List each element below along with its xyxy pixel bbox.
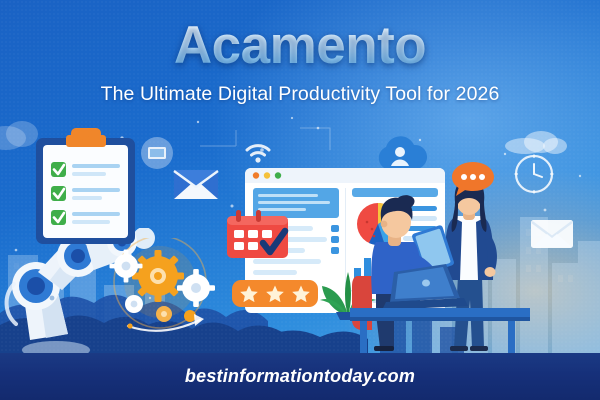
window-dot-close xyxy=(253,172,259,178)
window-dot-minimize xyxy=(264,172,270,178)
cloud-icon xyxy=(505,128,567,154)
monitor-icon xyxy=(140,136,174,170)
window-dot-maximize xyxy=(275,172,281,178)
promo-banner: Acamento The Ultimate Digital Productivi… xyxy=(0,0,600,400)
chat-bubble-icon xyxy=(450,160,496,198)
people-at-desk xyxy=(350,180,530,355)
checklist-clipboard xyxy=(33,128,138,246)
footer-bar: bestinformationtoday.com xyxy=(0,353,600,400)
banner-subtitle: The Ultimate Digital Productivity Tool f… xyxy=(0,83,600,106)
banner-header: Acamento The Ultimate Digital Productivi… xyxy=(0,0,600,106)
brand-title: Acamento xyxy=(0,0,600,74)
envelope-icon-white xyxy=(530,218,574,250)
calendar-icon xyxy=(225,210,290,262)
gear-cluster xyxy=(108,238,218,338)
envelope-icon-blue xyxy=(173,168,219,200)
wifi-icon xyxy=(243,140,273,164)
site-url[interactable]: bestinformationtoday.com xyxy=(185,366,415,387)
star-rating-pill xyxy=(232,280,318,307)
cloud-user-icon xyxy=(372,133,430,173)
